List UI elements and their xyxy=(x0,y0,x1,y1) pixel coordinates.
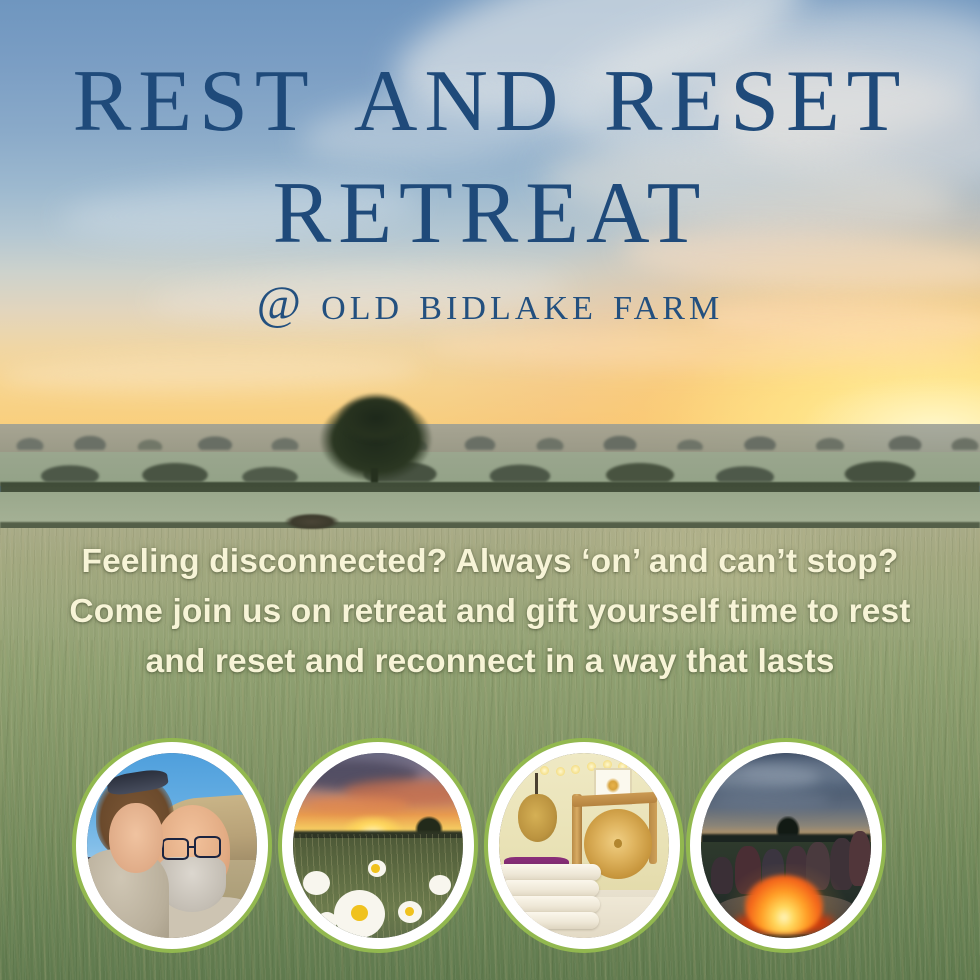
photo-art-couple xyxy=(87,753,257,938)
distant-treeline xyxy=(0,424,980,450)
photo-frame xyxy=(493,747,675,944)
title-block: Rest and Reset Retreat @ Old Bidlake Far… xyxy=(0,0,980,328)
photo-frame xyxy=(695,747,877,944)
photo-couple-portrait xyxy=(72,738,272,953)
photo-frame xyxy=(287,747,469,944)
photo-daisy-meadow-sunset xyxy=(278,738,478,953)
photo-gallery xyxy=(0,738,980,953)
photo-art-gong-room xyxy=(499,753,669,938)
photo-campfire-circle xyxy=(686,738,886,953)
photo-frame xyxy=(81,747,263,944)
venue-subtitle: @ Old Bidlake Farm xyxy=(0,280,980,328)
retreat-poster: Rest and Reset Retreat @ Old Bidlake Far… xyxy=(0,0,980,980)
body-line-2: Come join us on retreat and gift yoursel… xyxy=(0,587,980,637)
body-line-3: and reset and reconnect in a way that la… xyxy=(0,637,980,687)
body-copy-block: Feeling disconnected? Always ‘on’ and ca… xyxy=(0,528,980,687)
photo-art-campfire xyxy=(701,753,871,938)
photo-gong-bath-room xyxy=(484,738,684,953)
oak-tree-canopy-top xyxy=(336,392,416,444)
photo-art-meadow xyxy=(293,753,463,938)
body-line-1: Feeling disconnected? Always ‘on’ and ca… xyxy=(0,537,980,587)
field-object xyxy=(283,513,341,529)
middle-treeline xyxy=(0,448,980,482)
